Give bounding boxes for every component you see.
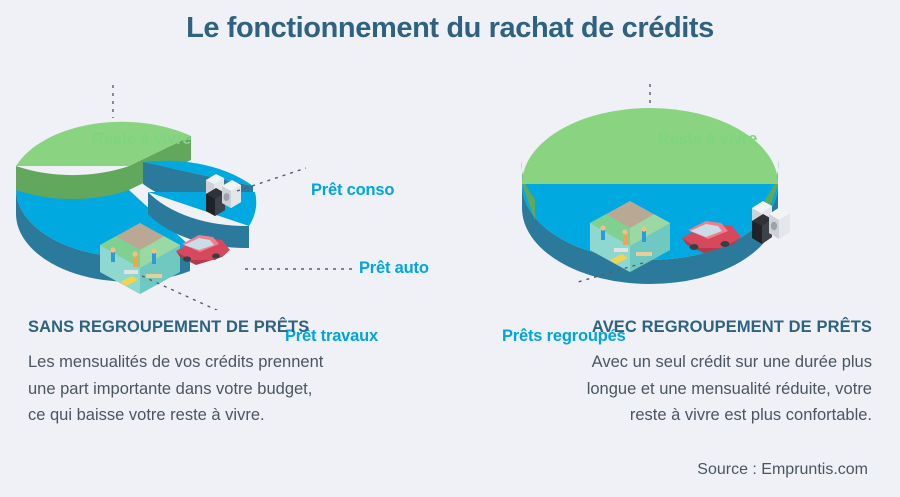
label-reste-a-vivre-right: Reste à vivre	[658, 130, 757, 149]
page-title: Le fonctionnement du rachat de crédits	[0, 12, 900, 45]
appliances-icon	[752, 201, 790, 310]
column-sans-regroupement: SANS REGROUPEMENT DE PRÊTS Les mensualit…	[28, 318, 428, 429]
body-line: une part importante dans votre budget,	[28, 376, 428, 403]
body-line: longue et une mensualité réduite, votre	[472, 376, 872, 403]
column-heading-sans-regroupement: SANS REGROUPEMENT DE PRÊTS	[28, 318, 428, 337]
comparison-columns: SANS REGROUPEMENT DE PRÊTS Les mensualit…	[0, 318, 900, 448]
body-line: ce qui baisse votre reste à vivre.	[28, 402, 428, 429]
pie-chart-avec-regroupement	[460, 60, 900, 310]
slice-side-reste-a-vivre	[16, 166, 129, 199]
label-reste-a-vivre-left: Reste à vivre	[92, 130, 191, 149]
source-attribution: Source : Empruntis.com	[697, 461, 868, 479]
label-pret-conso: Prêt conso	[311, 181, 394, 200]
column-heading-avec-regroupement: AVEC REGROUPEMENT DE PRÊTS	[472, 318, 872, 337]
label-pret-auto: Prêt auto	[359, 259, 429, 278]
body-line: Les mensualités de vos crédits prennent	[28, 349, 428, 376]
column-body-sans-regroupement: Les mensualités de vos crédits prennent …	[28, 349, 428, 429]
body-line: reste à vivre est plus confortable.	[472, 402, 872, 429]
column-avec-regroupement: AVEC REGROUPEMENT DE PRÊTS Avec un seul …	[472, 318, 872, 429]
infographic-root: Le fonctionnement du rachat de crédits	[0, 0, 900, 497]
column-body-avec-regroupement: Avec un seul crédit sur une durée plus l…	[472, 349, 872, 429]
leader-line-pret-conso	[237, 168, 306, 191]
charts-area: Reste à vivre Prêt conso Prêt auto Prêt …	[0, 60, 900, 310]
body-line: Avec un seul crédit sur une durée plus	[472, 349, 872, 376]
